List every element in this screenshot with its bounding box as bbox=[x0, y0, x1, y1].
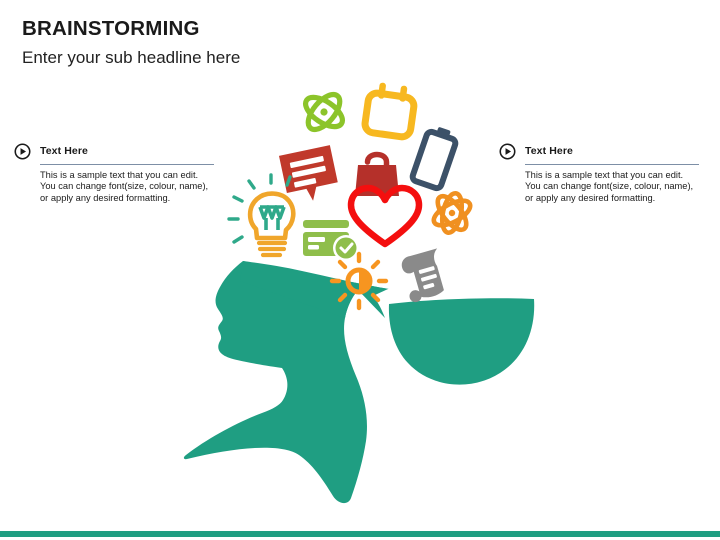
footer-accent-bar bbox=[0, 531, 720, 537]
brightness-sun-icon bbox=[332, 254, 386, 308]
head-profile-shape bbox=[184, 261, 388, 503]
callout-left-header: Text Here bbox=[14, 141, 214, 161]
scroll-document-icon bbox=[399, 248, 450, 303]
heart-icon bbox=[351, 188, 419, 244]
shopping-bag-icon bbox=[355, 155, 399, 197]
credit-card-icon bbox=[303, 220, 359, 261]
callout-left-body: This is a sample text that you can edit.… bbox=[40, 170, 216, 204]
open-head-silhouette bbox=[184, 261, 534, 503]
play-circle-icon[interactable] bbox=[14, 143, 31, 160]
speech-bubble-icon bbox=[279, 145, 340, 206]
callout-left-label: Text Here bbox=[40, 145, 88, 157]
page-subtitle: Enter your sub headline here bbox=[22, 48, 240, 68]
page-title: BRAINSTORMING bbox=[22, 17, 200, 41]
callout-right-body-line-2: You can change font(size, colour, name), bbox=[525, 181, 701, 192]
callout-right-body-line-1: This is a sample text that you can edit. bbox=[525, 170, 701, 181]
lightbulb-filament bbox=[260, 207, 284, 230]
lightbulb-rays bbox=[229, 175, 290, 242]
callout-left-body-line-1: This is a sample text that you can edit. bbox=[40, 170, 216, 181]
play-circle-icon[interactable] bbox=[499, 143, 516, 160]
atom-orange-icon bbox=[427, 189, 477, 237]
callout-right-header: Text Here bbox=[499, 141, 699, 161]
skull-cap-bowl bbox=[389, 298, 534, 384]
lightbulb-icon bbox=[229, 175, 293, 255]
callout-right-body-line-3: or apply any desired formatting. bbox=[525, 193, 701, 204]
callout-right-label: Text Here bbox=[525, 145, 573, 157]
callout-left: Text Here This is a sample text that you… bbox=[14, 141, 214, 204]
callout-left-body-line-2: You can change font(size, colour, name), bbox=[40, 181, 216, 192]
callout-right: Text Here This is a sample text that you… bbox=[499, 141, 699, 204]
callout-right-body: This is a sample text that you can edit.… bbox=[525, 170, 701, 204]
callout-left-body-line-3: or apply any desired formatting. bbox=[40, 193, 216, 204]
brainstorming-illustration bbox=[0, 0, 720, 540]
callout-left-divider bbox=[40, 164, 214, 165]
battery-icon bbox=[411, 124, 459, 190]
skull-flap-shape bbox=[240, 261, 389, 318]
calendar-icon bbox=[364, 81, 417, 138]
callout-right-divider bbox=[525, 164, 699, 165]
atom-icon bbox=[299, 87, 350, 137]
